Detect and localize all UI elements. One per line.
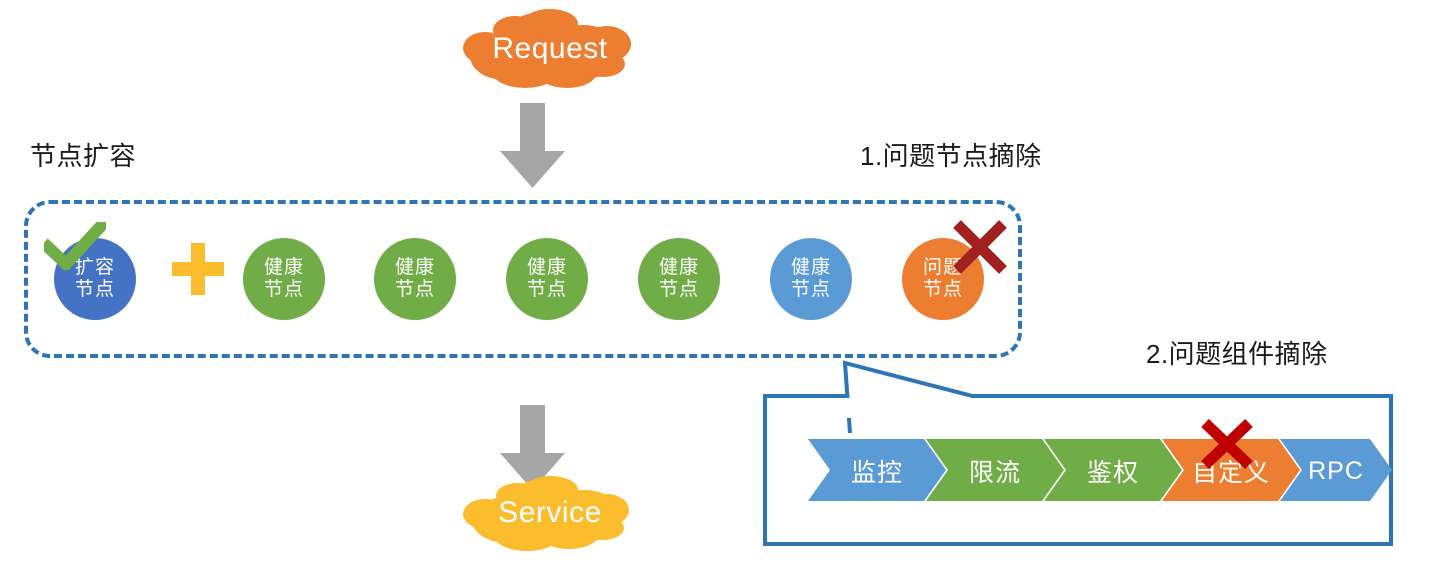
cross-icon (950, 218, 1010, 276)
down-arrow-icon (495, 103, 570, 188)
cross-badge-node (950, 218, 1010, 281)
step-one-label: 1.问题节点摘除 (860, 136, 1042, 173)
node-line1: 健康 (395, 257, 435, 279)
node-line2: 节点 (264, 279, 304, 301)
stage-label: 监控 (851, 453, 903, 489)
node-healthy-1[interactable]: 健康 节点 (243, 238, 325, 320)
diagram-canvas: Request 节点扩容 1.问题节点摘除 2.问题组件摘除 扩容 节点 健康 … (0, 0, 1440, 564)
top-flow-arrow (495, 103, 570, 193)
plus-icon (172, 243, 224, 295)
plus-icon-wrap (172, 243, 224, 300)
check-badge (44, 222, 106, 275)
node-line1: 健康 (527, 257, 567, 279)
node-line1: 健康 (264, 257, 304, 279)
node-healthy-3[interactable]: 健康 节点 (506, 238, 588, 320)
request-cloud: Request (455, 4, 645, 94)
stage-label: RPC (1308, 457, 1364, 486)
node-line2: 节点 (395, 279, 435, 301)
callout-tail (740, 325, 1090, 435)
service-cloud: Service (455, 470, 645, 556)
stage-label: 鉴权 (1087, 453, 1139, 489)
node-line2: 节点 (923, 279, 963, 301)
cloud-icon (455, 4, 645, 94)
left-section-label: 节点扩容 (30, 136, 136, 173)
node-healthy-5[interactable]: 健康 节点 (770, 238, 852, 320)
node-line1: 健康 (791, 257, 831, 279)
pipeline-box-inner-mask (767, 398, 1389, 418)
stage-label: 限流 (969, 453, 1021, 489)
node-line1: 健康 (659, 257, 699, 279)
cloud-icon (455, 470, 645, 556)
node-line2: 节点 (75, 279, 115, 301)
node-line2: 节点 (527, 279, 567, 301)
node-line2: 节点 (659, 279, 699, 301)
cross-icon (1198, 418, 1256, 470)
check-icon (44, 222, 106, 270)
step-two-label: 2.问题组件摘除 (1146, 334, 1328, 371)
node-healthy-2[interactable]: 健康 节点 (374, 238, 456, 320)
node-line2: 节点 (791, 279, 831, 301)
node-healthy-4[interactable]: 健康 节点 (638, 238, 720, 320)
cross-badge-stage (1198, 418, 1256, 475)
